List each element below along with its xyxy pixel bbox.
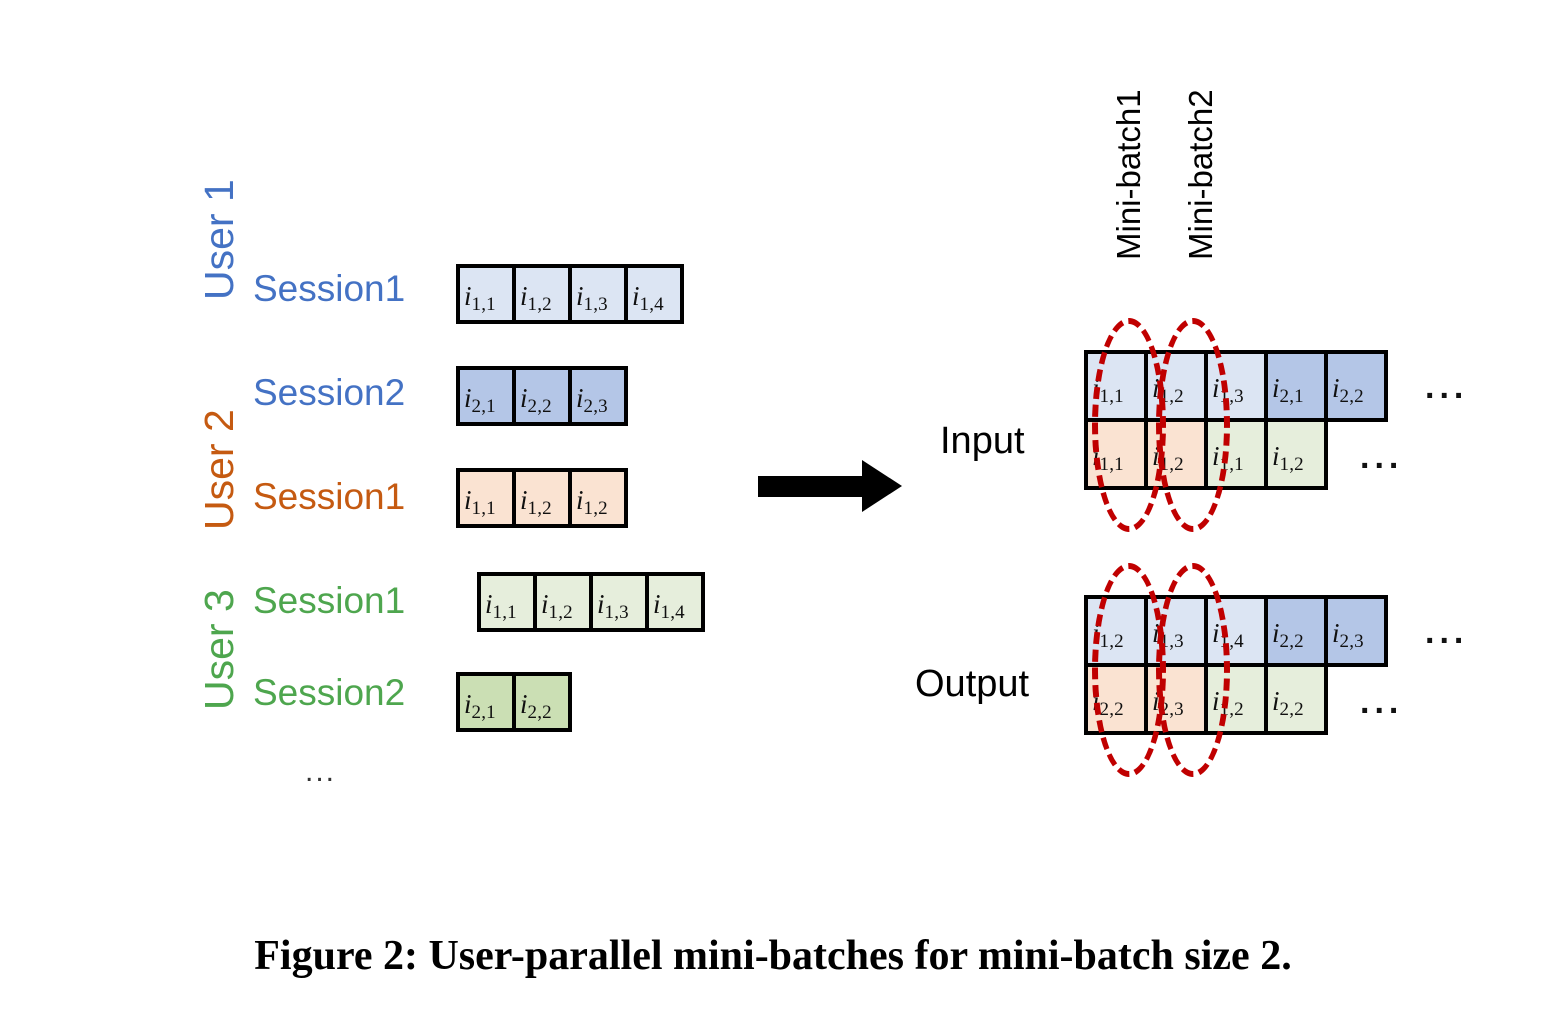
item-cell-label: i2,2	[516, 385, 552, 412]
item-cell: i2,2	[1264, 595, 1328, 667]
item-cell-label: i2,2	[1088, 688, 1124, 715]
item-cell: i2,2	[1084, 663, 1148, 735]
item-cell: i2,3	[1144, 663, 1208, 735]
item-cell-label: i2,2	[1268, 620, 1304, 647]
transform-arrow-shaft	[758, 476, 868, 497]
input-row-bottom: i1,1i1,2i1,1i1,2	[1084, 418, 1328, 490]
item-cell-label: i1,3	[1148, 620, 1184, 647]
item-cell: i1,1	[1204, 418, 1268, 490]
item-cell: i1,2	[1144, 418, 1208, 490]
user-label-2: User 2	[196, 409, 243, 530]
figure-canvas: User 1 User 2 User 3 Session1 Session2 S…	[0, 0, 1546, 1020]
item-cell: i1,2	[1264, 418, 1328, 490]
session-strip-u2-s1: i1,1i1,2i1,2	[456, 468, 628, 528]
session-strip-u1-s1: i1,1i1,2i1,3i1,4	[456, 264, 684, 324]
item-cell-label: i1,1	[460, 283, 496, 310]
item-cell: i2,2	[1264, 663, 1328, 735]
item-cell: i2,2	[512, 672, 572, 732]
transform-arrow-head	[862, 460, 902, 512]
item-cell-label: i1,4	[1208, 620, 1244, 647]
item-cell: i1,2	[1204, 663, 1268, 735]
item-cell: i2,1	[456, 672, 516, 732]
input-block-label: Input	[940, 420, 1025, 463]
session-label-u1-s1: Session1	[253, 268, 405, 310]
item-cell-label: i2,2	[516, 691, 552, 718]
item-cell: i1,1	[1084, 418, 1148, 490]
output-row-bottom-ellipsis: ...	[1360, 683, 1403, 722]
item-cell-label: i1,4	[628, 283, 664, 310]
item-cell-label: i2,2	[1268, 688, 1304, 715]
item-cell-label: i2,2	[1328, 375, 1364, 402]
item-cell-label: i1,1	[481, 591, 517, 618]
item-cell: i1,2	[512, 468, 572, 528]
item-cell: i2,1	[456, 366, 516, 426]
item-cell: i1,4	[624, 264, 684, 324]
item-cell-label: i1,1	[1208, 443, 1244, 470]
item-cell: i1,2	[512, 264, 572, 324]
item-cell-label: i2,1	[460, 385, 496, 412]
item-cell-label: i1,4	[649, 591, 685, 618]
minibatch-label-2: Mini-batch2	[1182, 89, 1220, 260]
item-cell: i2,2	[1324, 350, 1388, 422]
item-cell: i2,2	[512, 366, 572, 426]
session-strip-u3-s1: i1,1i1,2i1,3i1,4	[477, 572, 705, 632]
output-row-top: i1,2i1,3i1,4i2,2i2,3	[1084, 595, 1388, 667]
input-row-top: i1,1i1,2i1,3i2,1i2,2	[1084, 350, 1388, 422]
input-row-bottom-ellipsis: ...	[1360, 438, 1403, 477]
session-strip-u1-s2: i2,1i2,2i2,3	[456, 366, 628, 426]
item-cell: i1,3	[589, 572, 649, 632]
output-row-top-ellipsis: ...	[1425, 613, 1468, 652]
item-cell: i1,1	[456, 468, 516, 528]
item-cell-label: i1,2	[1208, 688, 1244, 715]
item-cell-label: i1,3	[572, 283, 608, 310]
item-cell-label: i1,1	[1088, 375, 1124, 402]
item-cell: i1,2	[1084, 595, 1148, 667]
item-cell: i2,3	[568, 366, 628, 426]
session-label-u1-s2: Session2	[253, 372, 405, 414]
item-cell: i1,2	[1144, 350, 1208, 422]
user-label-3: User 3	[196, 589, 243, 710]
session-label-u2-s1: Session1	[253, 476, 405, 518]
session-label-u3-s1: Session1	[253, 580, 405, 622]
item-cell: i2,1	[1264, 350, 1328, 422]
item-cell: i1,2	[533, 572, 593, 632]
item-cell: i1,1	[477, 572, 537, 632]
item-cell-label: i2,3	[1328, 620, 1364, 647]
item-cell: i1,1	[1084, 350, 1148, 422]
item-cell-label: i1,2	[572, 487, 608, 514]
item-cell: i2,3	[1324, 595, 1388, 667]
item-cell-label: i1,3	[1208, 375, 1244, 402]
item-cell-label: i1,2	[1088, 620, 1124, 647]
session-strip-u3-s2: i2,1i2,2	[456, 672, 572, 732]
input-row-top-ellipsis: ...	[1425, 368, 1468, 407]
item-cell-label: i1,2	[537, 591, 573, 618]
item-cell-label: i2,1	[1268, 375, 1304, 402]
minibatch-label-1: Mini-batch1	[1110, 89, 1148, 260]
user-label-1: User 1	[196, 179, 243, 300]
item-cell-label: i1,1	[1088, 443, 1124, 470]
output-row-bottom: i2,2i2,3i1,2i2,2	[1084, 663, 1328, 735]
item-cell-label: i1,1	[460, 487, 496, 514]
left-ellipsis: ...	[305, 755, 336, 789]
item-cell-label: i1,2	[1268, 443, 1304, 470]
item-cell-label: i2,3	[572, 385, 608, 412]
item-cell: i1,3	[1144, 595, 1208, 667]
session-label-u3-s2: Session2	[253, 672, 405, 714]
item-cell-label: i1,2	[1148, 443, 1184, 470]
item-cell-label: i1,2	[516, 487, 552, 514]
item-cell: i1,2	[568, 468, 628, 528]
item-cell: i1,4	[645, 572, 705, 632]
item-cell-label: i1,2	[516, 283, 552, 310]
output-block-label: Output	[915, 663, 1029, 706]
item-cell-label: i2,3	[1148, 688, 1184, 715]
item-cell: i1,3	[568, 264, 628, 324]
item-cell-label: i2,1	[460, 691, 496, 718]
item-cell: i1,4	[1204, 595, 1268, 667]
item-cell-label: i1,3	[593, 591, 629, 618]
figure-caption: Figure 2: User-parallel mini-batches for…	[0, 932, 1546, 980]
item-cell-label: i1,2	[1148, 375, 1184, 402]
item-cell: i1,3	[1204, 350, 1268, 422]
item-cell: i1,1	[456, 264, 516, 324]
